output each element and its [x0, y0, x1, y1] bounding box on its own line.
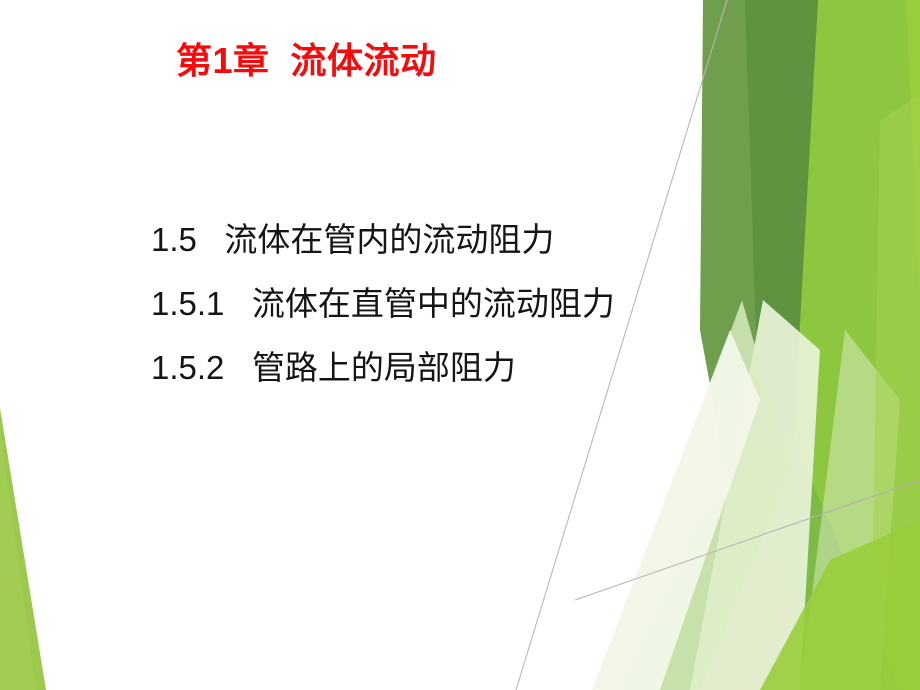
body-line-item-1: 1.5 流体在管内的流动阻力: [151, 222, 554, 258]
page-title: 第1章 流体流动: [176, 40, 437, 82]
presentation-slide: 第1章 流体流动 1.5 流体在管内的流动阻力 1.5.1 流体在直管中的流动阻…: [0, 0, 920, 690]
slide-content: 第1章 流体流动 1.5 流体在管内的流动阻力 1.5.1 流体在直管中的流动阻…: [0, 0, 920, 690]
body-line-item-2: 1.5.1 流体在直管中的流动阻力: [151, 286, 615, 322]
body-line-item-3: 1.5.2 管路上的局部阻力: [151, 350, 516, 386]
